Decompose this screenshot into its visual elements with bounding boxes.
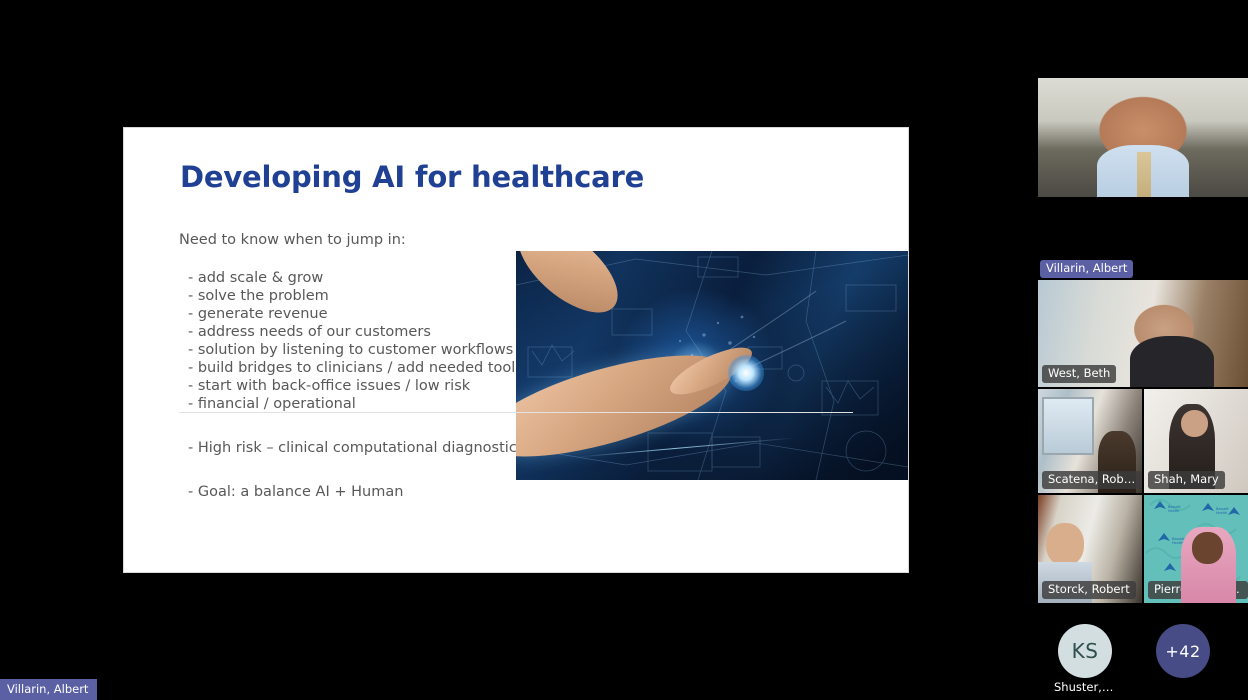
active-speaker-name-tag: Villarin, Albert [1040, 260, 1133, 278]
list-item: - generate revenue [179, 305, 509, 323]
video-tile-pierre-louis[interactable]: BassettHealth BassettHealth BassettHealt… [1144, 495, 1248, 603]
list-item: - solution by listening to customer work… [179, 341, 509, 359]
video-feed [1038, 78, 1248, 197]
audio-participant-row: KS Shuster, ... +42 [1038, 624, 1248, 694]
spacer [179, 457, 509, 483]
video-tile-villarin-albert[interactable] [1038, 78, 1248, 197]
page-title: Developing AI for healthcare [180, 160, 644, 194]
overflow-count: +42 [1156, 624, 1210, 678]
list-item: - financial / operational [179, 395, 509, 413]
participant-name-tag: Scatena, Robyn [1042, 471, 1142, 489]
presenter-name-banner: Villarin, Albert [0, 679, 97, 700]
meeting-stage: Developing AI for healthcare Need to kno… [0, 0, 1248, 700]
touch-glow-icon [728, 355, 764, 391]
shared-slide[interactable]: Developing AI for healthcare Need to kno… [124, 128, 908, 572]
participant-overflow-badge[interactable]: +42 [1152, 624, 1214, 678]
slide-divider [179, 412, 853, 413]
list-item: - start with back-office issues / low ri… [179, 377, 509, 395]
video-tile-west-beth[interactable]: West, Beth [1038, 280, 1248, 387]
participant-name-tag: West, Beth [1042, 365, 1116, 383]
video-tile-scatena-robyn[interactable]: Scatena, Robyn [1038, 389, 1142, 493]
list-item: - add scale & grow [179, 269, 509, 287]
list-item: - build bridges to clinicians / add need… [179, 359, 509, 377]
svg-text:Health: Health [1172, 541, 1183, 545]
slide-risk-line: - High risk – clinical computational dia… [179, 439, 509, 457]
participant-rail: Villarin, Albert West, Beth Scatena, Rob… [1038, 0, 1248, 700]
avatar: KS [1058, 624, 1112, 678]
slide-image [516, 251, 908, 480]
avatar-label: Shuster, ... [1054, 680, 1116, 694]
participant-name-tag: Shah, Mary [1148, 471, 1225, 489]
participant-avatar-shuster[interactable]: KS Shuster, ... [1054, 624, 1116, 694]
slide-lead-line: Need to know when to jump in: [179, 231, 509, 249]
spacer [179, 413, 509, 439]
slide-body-text: Need to know when to jump in: - add scal… [179, 231, 509, 501]
participant-name-tag: Storck, Robert [1042, 581, 1136, 599]
list-item: - solve the problem [179, 287, 509, 305]
video-tile-storck-robert[interactable]: Storck, Robert [1038, 495, 1142, 603]
slide-bullet-list: - add scale & grow - solve the problem -… [179, 269, 509, 413]
slide-goal-line: - Goal: a balance AI + Human [179, 483, 509, 501]
svg-text:Bassett: Bassett [1220, 541, 1233, 545]
video-tile-shah-mary[interactable]: Shah, Mary [1144, 389, 1248, 493]
svg-text:Health: Health [1220, 545, 1231, 549]
svg-text:Health: Health [1168, 509, 1179, 513]
list-item: - address needs of our customers [179, 323, 509, 341]
svg-text:Health: Health [1216, 511, 1227, 515]
